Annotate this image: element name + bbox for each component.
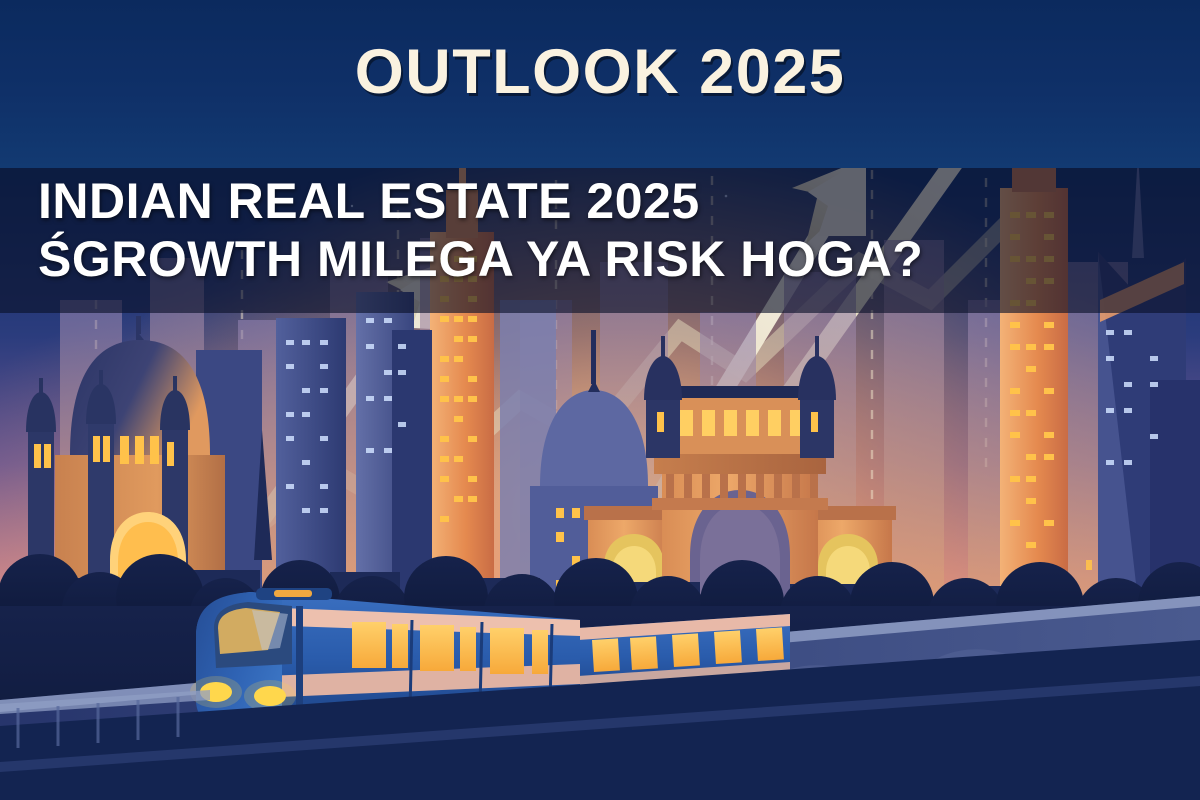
poster-canvas: OUTLOOK 2025 INDIAN REAL ESTATE 2025 ŚGR… [0, 0, 1200, 800]
headline-line-2: ŚGROWTH MILEGA YA RISK HOGA? [38, 234, 1168, 285]
headline-block: INDIAN REAL ESTATE 2025 ŚGROWTH MILEGA Y… [38, 176, 1168, 285]
headline-line-1: INDIAN REAL ESTATE 2025 [38, 176, 1168, 227]
page-title: OUTLOOK 2025 [0, 36, 1200, 108]
